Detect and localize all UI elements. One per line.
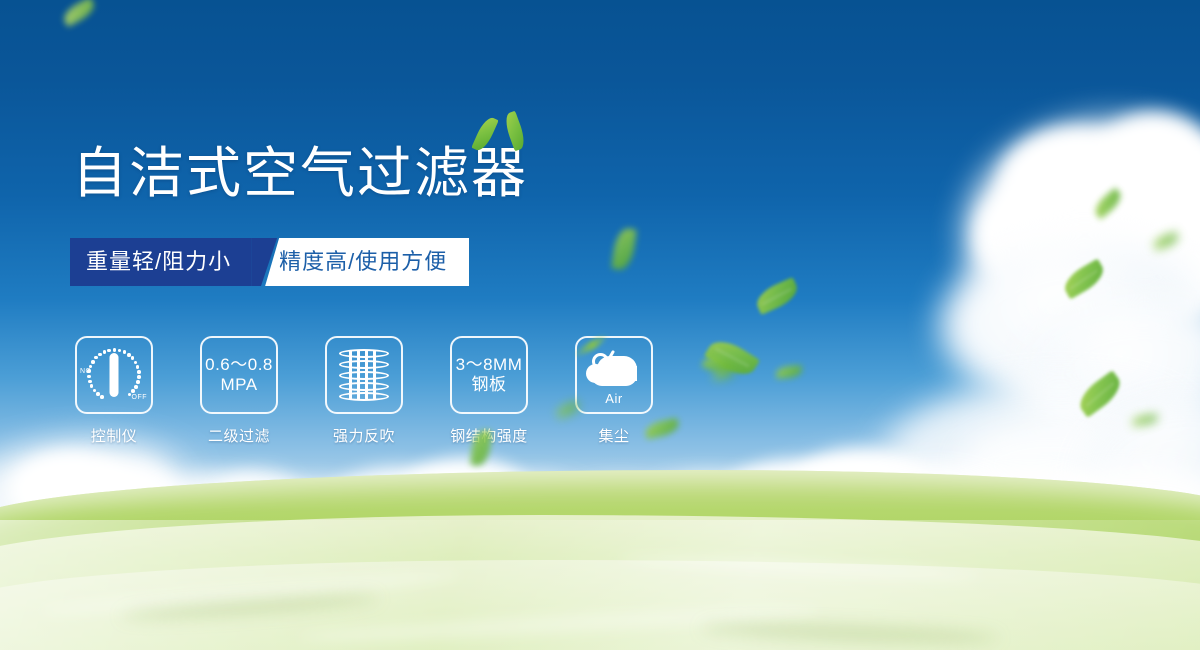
- gauge-tick-dot: [87, 375, 91, 379]
- gauge-tick-dot: [96, 392, 100, 396]
- pressure-unit: MPA: [205, 375, 273, 395]
- gauge-off-label: OFF: [132, 394, 148, 401]
- gauge-tick-dot: [90, 384, 94, 388]
- gauge-tick-dot: [134, 385, 138, 389]
- feature-item-filtration[interactable]: 0.6～0.8 MPA 二级过滤: [195, 336, 283, 446]
- gauge-tick-dot: [136, 365, 140, 369]
- gauge-tick-dot: [131, 389, 135, 393]
- feature-item-dust[interactable]: Air 集尘: [570, 336, 658, 446]
- gauge-needle-icon: [110, 353, 119, 397]
- gauge-tick-dot: [88, 380, 92, 384]
- feature-label: 二级过滤: [208, 425, 270, 446]
- gauge-tick-dot: [98, 353, 102, 357]
- feature-icon-box: NO OFF: [75, 336, 153, 414]
- feature-icon-box: 3～8MM 钢板: [450, 336, 528, 414]
- air-label: Air: [583, 391, 645, 406]
- gauge-tick-dot: [131, 356, 135, 360]
- steel-material: 钢板: [456, 375, 523, 395]
- gauge-on-label: NO: [80, 368, 92, 375]
- gauge-dial-icon: NO OFF: [83, 344, 145, 406]
- feature-icon-box: [325, 336, 403, 414]
- gauge-tick-dot: [134, 361, 138, 365]
- steel-thickness: 3～8MM: [456, 355, 523, 375]
- gauge-tick-dot: [91, 360, 95, 364]
- feature-icon-box: Air: [575, 336, 653, 414]
- gauge-tick-dot: [136, 380, 140, 384]
- subtitle-right: 精度高/使用方便: [265, 238, 469, 286]
- steel-plate-text-icon: 3～8MM 钢板: [456, 355, 523, 395]
- feature-label: 强力反吹: [333, 425, 395, 446]
- pressure-text-icon: 0.6～0.8 MPA: [205, 355, 273, 395]
- gauge-tick-dot: [137, 375, 141, 379]
- feature-item-steel[interactable]: 3～8MM 钢板 钢结构强度: [445, 336, 533, 446]
- feature-icon-box: 0.6～0.8 MPA: [200, 336, 278, 414]
- grass-hill-near: [0, 560, 1200, 650]
- gauge-tick-dot: [123, 350, 127, 354]
- feature-label: 控制仪: [91, 425, 138, 446]
- page-title: 自洁式空气过滤器: [72, 143, 528, 203]
- gauge-tick-dot: [94, 356, 98, 360]
- feature-item-backblow[interactable]: 强力反吹: [320, 336, 408, 446]
- gauge-tick-dot: [137, 370, 141, 374]
- gauge-tick-dot: [118, 349, 122, 353]
- air-cloud-icon: Air: [583, 346, 645, 404]
- product-banner: 自洁式空气过滤器 重量轻/阻力小 精度高/使用方便 NO OFF 控制仪: [0, 0, 1200, 650]
- feature-item-control[interactable]: NO OFF 控制仪: [70, 336, 158, 446]
- feature-list: NO OFF 控制仪 0.6～0.8 MPA 二级过滤: [70, 336, 658, 446]
- subtitle-left: 重量轻/阻力小: [70, 238, 251, 286]
- feature-label: 集尘: [598, 425, 629, 446]
- subtitle-bar: 重量轻/阻力小 精度高/使用方便: [70, 238, 469, 286]
- gauge-tick-dot: [113, 348, 117, 352]
- gauge-tick-dot: [100, 395, 104, 399]
- gauge-tick-dot: [103, 350, 107, 354]
- pressure-range: 0.6～0.8: [205, 355, 273, 375]
- filter-coil-icon: [335, 346, 393, 404]
- cloud-body-bottom: [591, 366, 637, 386]
- gauge-tick-dot: [127, 353, 131, 357]
- gauge-tick-dot: [107, 349, 111, 353]
